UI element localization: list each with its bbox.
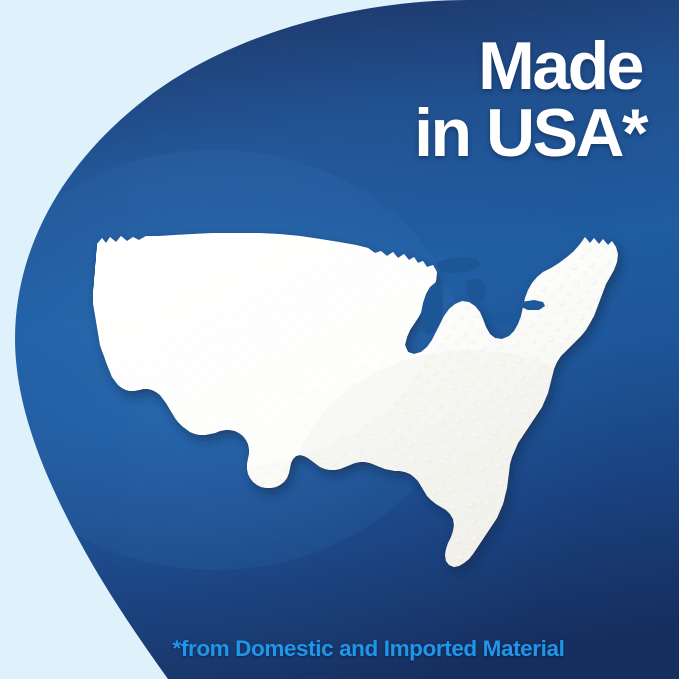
footer-disclaimer: *from Domestic and Imported Material	[0, 636, 679, 662]
headline-line-made: Made	[410, 33, 660, 100]
headline-line-in-usa: in USA*	[410, 100, 660, 167]
headline: Made in USA*	[410, 33, 660, 166]
made-in-usa-promo-banner: Made in USA*	[0, 0, 679, 679]
